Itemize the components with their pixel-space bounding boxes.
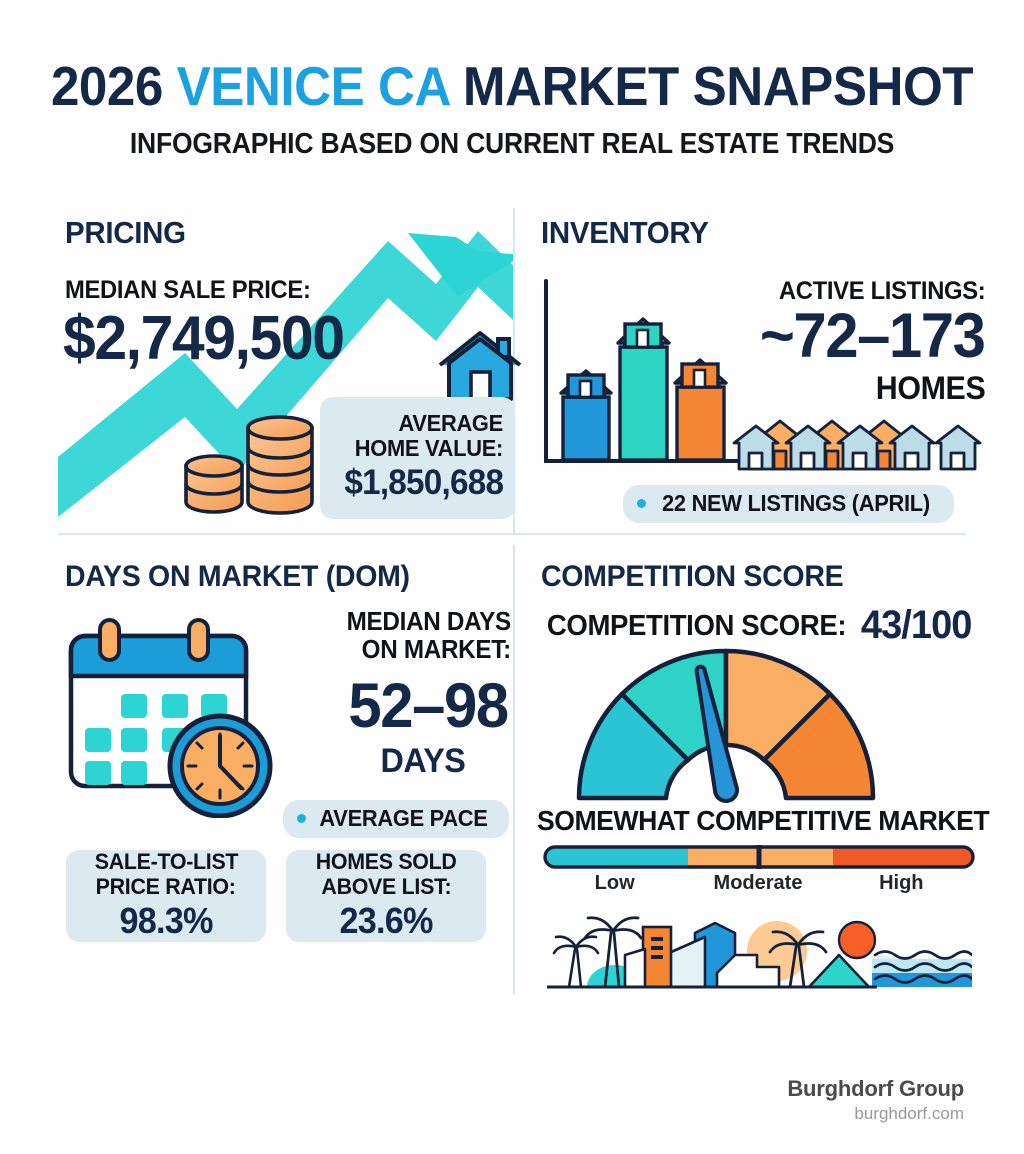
days-on-market-panel: DAYS ON MARKET (DOM) (58, 560, 513, 995)
dom-heading: DAYS ON MARKET (DOM) (65, 560, 410, 594)
scale-label-moderate: Moderate (686, 872, 829, 895)
title-place: VENICE CA (177, 55, 449, 117)
competition-gauge (571, 640, 881, 805)
competition-panel: COMPETITION SCORE COMPETITION SCORE:43/1… (535, 560, 985, 995)
sale-to-list-label-2: PRICE RATIO: (96, 875, 236, 900)
bar-3 (675, 360, 726, 460)
sale-to-list-ratio-box: SALE-TO-LIST PRICE RATIO: 98.3% (66, 850, 266, 942)
competition-scale-bar (543, 845, 975, 869)
median-dom-label: MEDIAN DAYS ON MARKET: (347, 608, 511, 664)
median-dom-value: 52–98 (349, 675, 508, 738)
infographic-page: 2026 VENICE CA MARKET SNAPSHOT INFOGRAPH… (0, 0, 1024, 1154)
sale-to-list-value: 98.3% (119, 900, 212, 942)
competition-score-label: COMPETITION SCORE: (547, 610, 846, 643)
footer: Burghdorf Group burghdorf.com (787, 1076, 964, 1124)
bullet-dot-icon (297, 814, 306, 823)
footer-site: burghdorf.com (787, 1104, 964, 1124)
divider-horizontal (58, 533, 966, 535)
homes-above-list-box: HOMES SOLD ABOVE LIST: 23.6% (286, 850, 486, 942)
median-dom-unit: DAYS (380, 742, 465, 781)
scale-label-low: Low (543, 872, 686, 895)
active-listings-unit: HOMES (875, 370, 985, 407)
average-pace-text: AVERAGE PACE (319, 805, 487, 832)
bar-2 (618, 319, 669, 460)
new-listings-badge: 22 NEW LISTINGS (APRIL) (623, 485, 954, 523)
scale-label-high: High (830, 872, 973, 895)
divider-vertical-bottom (513, 545, 515, 995)
median-dom-label-line1: MEDIAN DAYS (347, 608, 511, 636)
page-subtitle: INFOGRAPHIC BASED ON CURRENT REAL ESTATE… (36, 128, 988, 161)
competition-heading: COMPETITION SCORE (541, 560, 843, 594)
active-listings-value: ~72–173 (760, 305, 985, 368)
page-header: 2026 VENICE CA MARKET SNAPSHOT INFOGRAPH… (0, 0, 1024, 161)
average-home-value-label-2: HOME VALUE: (355, 436, 503, 461)
median-sale-price-label: MEDIAN SALE PRICE: (65, 277, 311, 304)
bar-1 (561, 371, 611, 460)
homes-above-list-value: 23.6% (339, 900, 432, 942)
sale-to-list-label-1: SALE-TO-LIST (94, 850, 237, 875)
new-listings-text: 22 NEW LISTINGS (APRIL) (662, 490, 930, 517)
homes-above-list-label-2: ABOVE LIST: (321, 875, 451, 900)
title-year: 2026 (51, 55, 163, 117)
title-rest: MARKET SNAPSHOT (463, 55, 973, 117)
inventory-panel: INVENTORY (535, 215, 985, 525)
average-home-value-label-1: AVERAGE (399, 411, 503, 436)
average-home-value-box: AVERAGE HOME VALUE: $1,850,688 (320, 397, 515, 519)
venice-beach-skyline-illustration (547, 915, 972, 995)
pricing-panel: PRICING MEDIAN SALE PRICE: $2,749,500 AV… (58, 215, 513, 525)
average-pace-badge: AVERAGE PACE (283, 800, 509, 838)
bullet-dot-icon (637, 499, 646, 508)
inventory-heading: INVENTORY (541, 215, 709, 251)
competition-scale-labels: Low Moderate High (543, 872, 973, 895)
average-home-value-value: $1,850,688 (344, 463, 503, 503)
median-sale-price-value: $2,749,500 (63, 308, 344, 370)
competition-caption: SOMEWHAT COMPETITIVE MARKET (537, 805, 989, 837)
row-of-houses-icon (720, 415, 985, 475)
footer-brand: Burghdorf Group (787, 1076, 964, 1102)
homes-above-list-label-1: HOMES SOLD (316, 850, 457, 875)
median-dom-label-line2: ON MARKET: (362, 636, 511, 664)
page-title: 2026 VENICE CA MARKET SNAPSHOT (36, 58, 988, 114)
house-icon (436, 327, 524, 407)
calendar-clock-icon (63, 618, 288, 818)
pricing-heading: PRICING (65, 215, 186, 251)
